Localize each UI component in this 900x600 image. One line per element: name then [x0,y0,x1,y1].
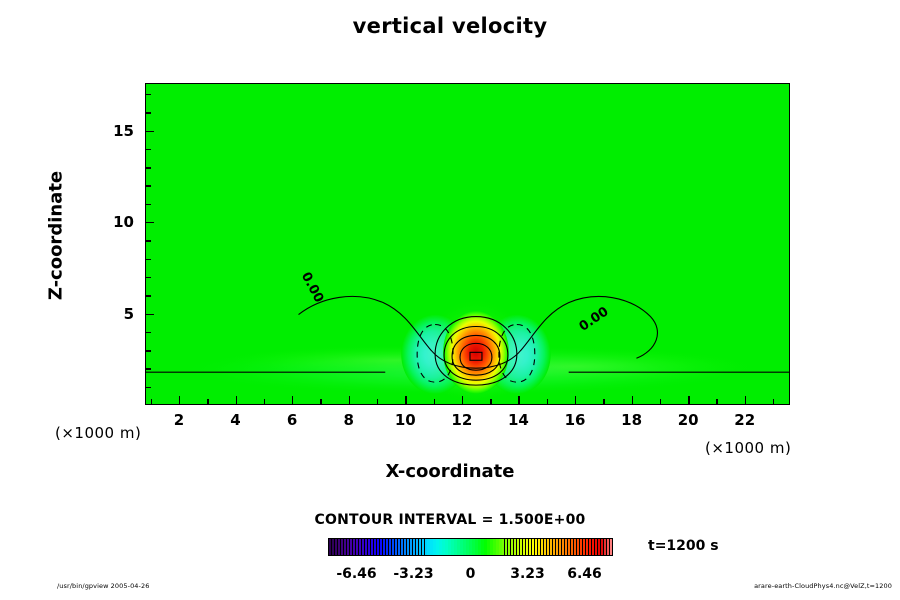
y-tick [145,131,154,132]
colorbar[interactable] [328,538,613,556]
x-tick-label: 20 [668,411,708,429]
footer-command: /usr/bin/gpview 2005-04-26 [57,582,149,590]
y-tick [145,259,151,260]
x-tick [320,399,321,405]
y-tick [145,222,154,223]
x-tick [490,399,491,405]
y-tick [145,185,151,186]
x-tick [151,399,152,405]
y-tick-label: 10 [104,213,134,231]
x-tick [179,396,180,405]
x-tick [547,399,548,405]
y-tick [145,277,151,278]
x-tick [660,399,661,405]
x-tick [434,399,435,405]
x-tick [632,396,633,405]
x-tick [207,399,208,405]
x-tick [405,396,406,405]
x-tick [575,396,576,405]
footer-dataset: arare-earth-CloudPhys4.nc@VelZ,t=1200 [754,582,892,590]
colorbar-cell [610,539,612,555]
x-tick [264,399,265,405]
x-tick-label: 12 [442,411,482,429]
x-tick [236,396,237,405]
x-tick-label: 4 [216,411,256,429]
x-tick [377,399,378,405]
x-tick-label: 14 [498,411,538,429]
y-tick [145,149,151,150]
page-title: vertical velocity [0,14,900,38]
y-tick [145,240,151,241]
y-tick [145,332,151,333]
x-tick-label: 6 [272,411,312,429]
x-tick-label: 18 [612,411,652,429]
colorbar-tick-label: 6.46 [550,566,620,582]
y-tick [145,350,151,351]
x-tick-label: 22 [725,411,765,429]
y-tick [145,112,151,113]
x-tick [773,399,774,405]
x-tick [518,396,519,405]
y-tick [145,167,151,168]
y-axis-title: Z-coordinate [46,156,67,316]
x-tick-label: 8 [329,411,369,429]
x-tick-label: 10 [385,411,425,429]
x-tick [688,396,689,405]
y-axis-unit: (×1000 m) [55,424,141,442]
x-tick [292,396,293,405]
y-tick [145,368,151,369]
x-tick [716,399,717,405]
time-label: t=1200 s [648,538,719,554]
vertical-velocity-field [146,84,789,404]
x-tick [603,399,604,405]
x-axis-unit: (×1000 m) [705,439,791,457]
y-tick-label: 15 [104,122,134,140]
y-tick-label: 5 [104,305,134,323]
y-tick [145,204,151,205]
y-tick [145,94,151,95]
x-tick [745,396,746,405]
x-axis-title: X-coordinate [0,461,900,482]
x-tick-label: 16 [555,411,595,429]
x-tick [349,396,350,405]
y-tick [145,387,151,388]
contour-interval-caption: CONTOUR INTERVAL = 1.500E+00 [0,512,900,528]
x-tick-label: 2 [159,411,199,429]
contour-plot-panel[interactable] [145,83,790,405]
y-tick [145,295,151,296]
y-tick [145,314,154,315]
x-tick [462,396,463,405]
